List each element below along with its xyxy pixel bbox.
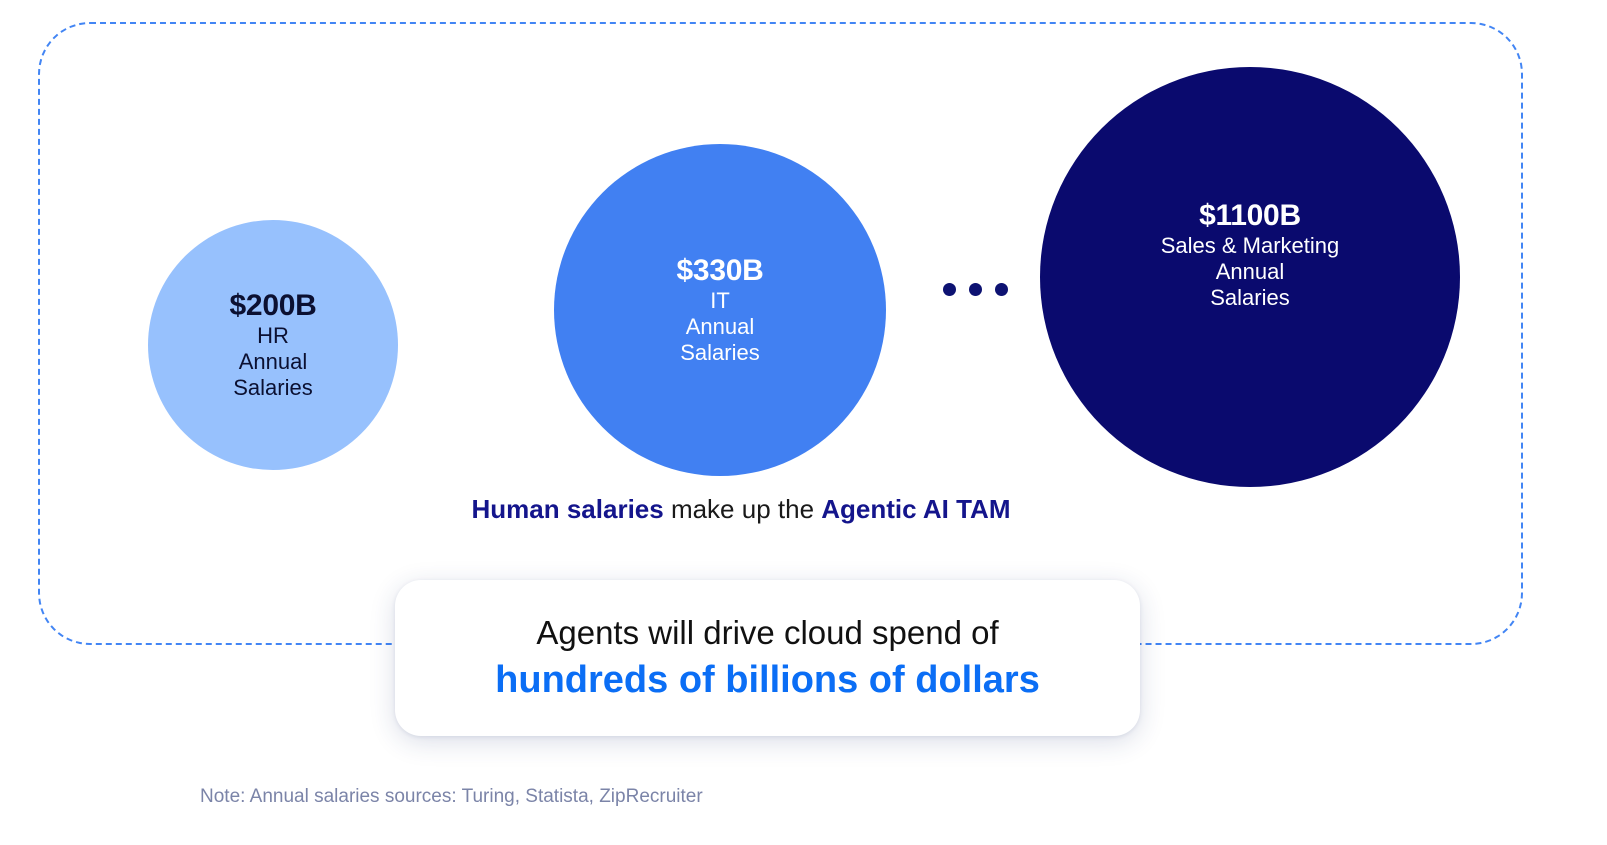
ellipsis-dot bbox=[995, 283, 1008, 296]
callout-line-2: hundreds of billions of dollars bbox=[495, 657, 1040, 705]
callout-line-1: Agents will drive cloud spend of bbox=[536, 612, 998, 653]
tagline-highlight-start: Human salaries bbox=[472, 494, 664, 524]
tagline-middle: make up the bbox=[664, 494, 822, 524]
bubble-sales-marketing-amount: $1100B bbox=[1199, 199, 1301, 233]
bubble-it-amount: $330B bbox=[677, 254, 764, 288]
ellipsis-dot bbox=[969, 283, 982, 296]
bubble-hr-amount: $200B bbox=[230, 289, 317, 323]
tagline: Human salaries make up the Agentic AI TA… bbox=[0, 494, 1482, 525]
tagline-highlight-end: Agentic AI TAM bbox=[821, 494, 1010, 524]
bubble-it: $330B IT Annual Salaries bbox=[554, 144, 886, 476]
bubble-hr-label: HR Annual Salaries bbox=[233, 323, 312, 402]
bubble-hr: $200B HR Annual Salaries bbox=[148, 220, 398, 470]
footnote-sources: Note: Annual salaries sources: Turing, S… bbox=[200, 786, 703, 808]
bubble-it-label: IT Annual Salaries bbox=[680, 288, 759, 367]
callout-card: Agents will drive cloud spend of hundred… bbox=[395, 580, 1140, 736]
infographic-stage: $200B HR Annual Salaries $330B IT Annual… bbox=[0, 0, 1607, 845]
bubble-sales-marketing-label: Sales & Marketing Annual Salaries bbox=[1161, 233, 1340, 312]
ellipsis-marker bbox=[943, 283, 1008, 296]
ellipsis-dot bbox=[943, 283, 956, 296]
bubble-sales-marketing: $1100B Sales & Marketing Annual Salaries bbox=[1040, 67, 1460, 487]
